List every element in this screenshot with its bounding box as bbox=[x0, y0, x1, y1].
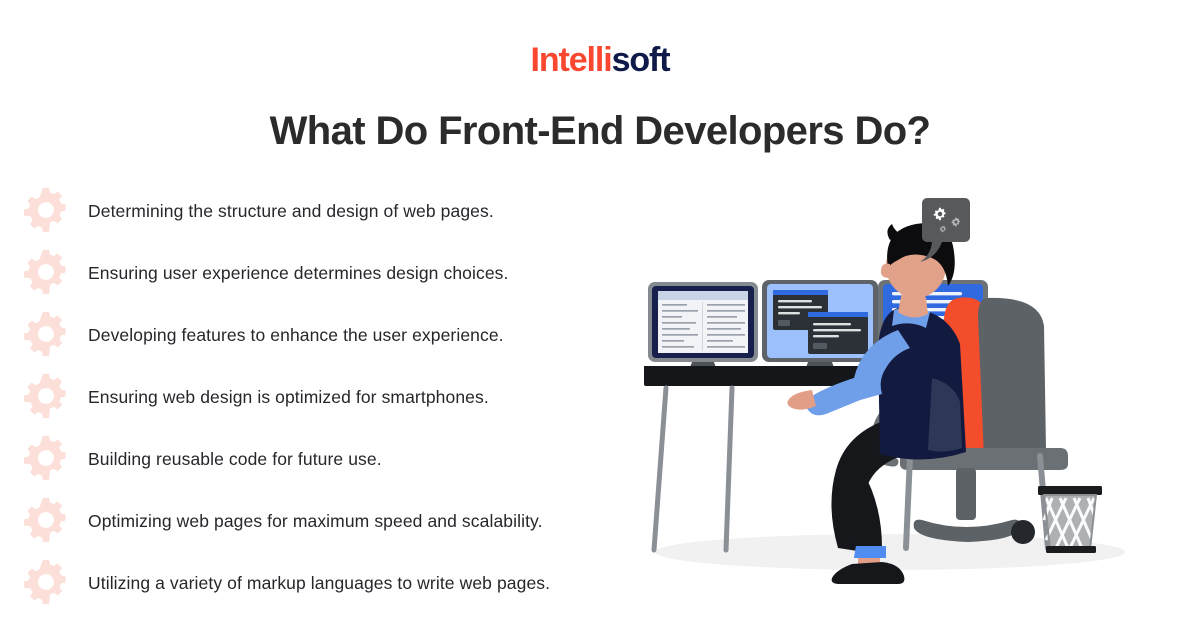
list-item: Optimizing web pages for maximum speed a… bbox=[22, 490, 642, 552]
gear-icon bbox=[22, 372, 70, 420]
list-item: Utilizing a variety of markup languages … bbox=[22, 552, 642, 614]
developer-at-desk-illustration bbox=[640, 180, 1130, 600]
gear-icon bbox=[22, 310, 70, 358]
list-item-label: Ensuring web design is optimized for sma… bbox=[88, 385, 489, 409]
list-item-label: Utilizing a variety of markup languages … bbox=[88, 571, 550, 595]
list-item-label: Optimizing web pages for maximum speed a… bbox=[88, 509, 543, 533]
list-item-label: Developing features to enhance the user … bbox=[88, 323, 504, 347]
list-item-label: Determining the structure and design of … bbox=[88, 199, 494, 223]
list-item-label: Ensuring user experience determines desi… bbox=[88, 261, 508, 285]
list-item: Ensuring user experience determines desi… bbox=[22, 242, 642, 304]
logo-text-secondary: soft bbox=[612, 41, 670, 79]
responsibilities-list: Determining the structure and design of … bbox=[22, 180, 642, 614]
gear-icon bbox=[22, 248, 70, 296]
list-item: Developing features to enhance the user … bbox=[22, 304, 642, 366]
list-item: Building reusable code for future use. bbox=[22, 428, 642, 490]
gear-icon bbox=[22, 186, 70, 234]
list-item-label: Building reusable code for future use. bbox=[88, 447, 382, 471]
brand-logo: Intellisoft bbox=[0, 40, 1200, 80]
page-title: What Do Front-End Developers Do? bbox=[0, 104, 1200, 158]
logo-text-primary: Intelli bbox=[530, 41, 611, 79]
gear-icon bbox=[22, 434, 70, 482]
list-item: Determining the structure and design of … bbox=[22, 180, 642, 242]
list-item: Ensuring web design is optimized for sma… bbox=[22, 366, 642, 428]
gear-icon bbox=[22, 558, 70, 606]
gear-icon bbox=[22, 496, 70, 544]
desk-legs bbox=[654, 388, 732, 550]
